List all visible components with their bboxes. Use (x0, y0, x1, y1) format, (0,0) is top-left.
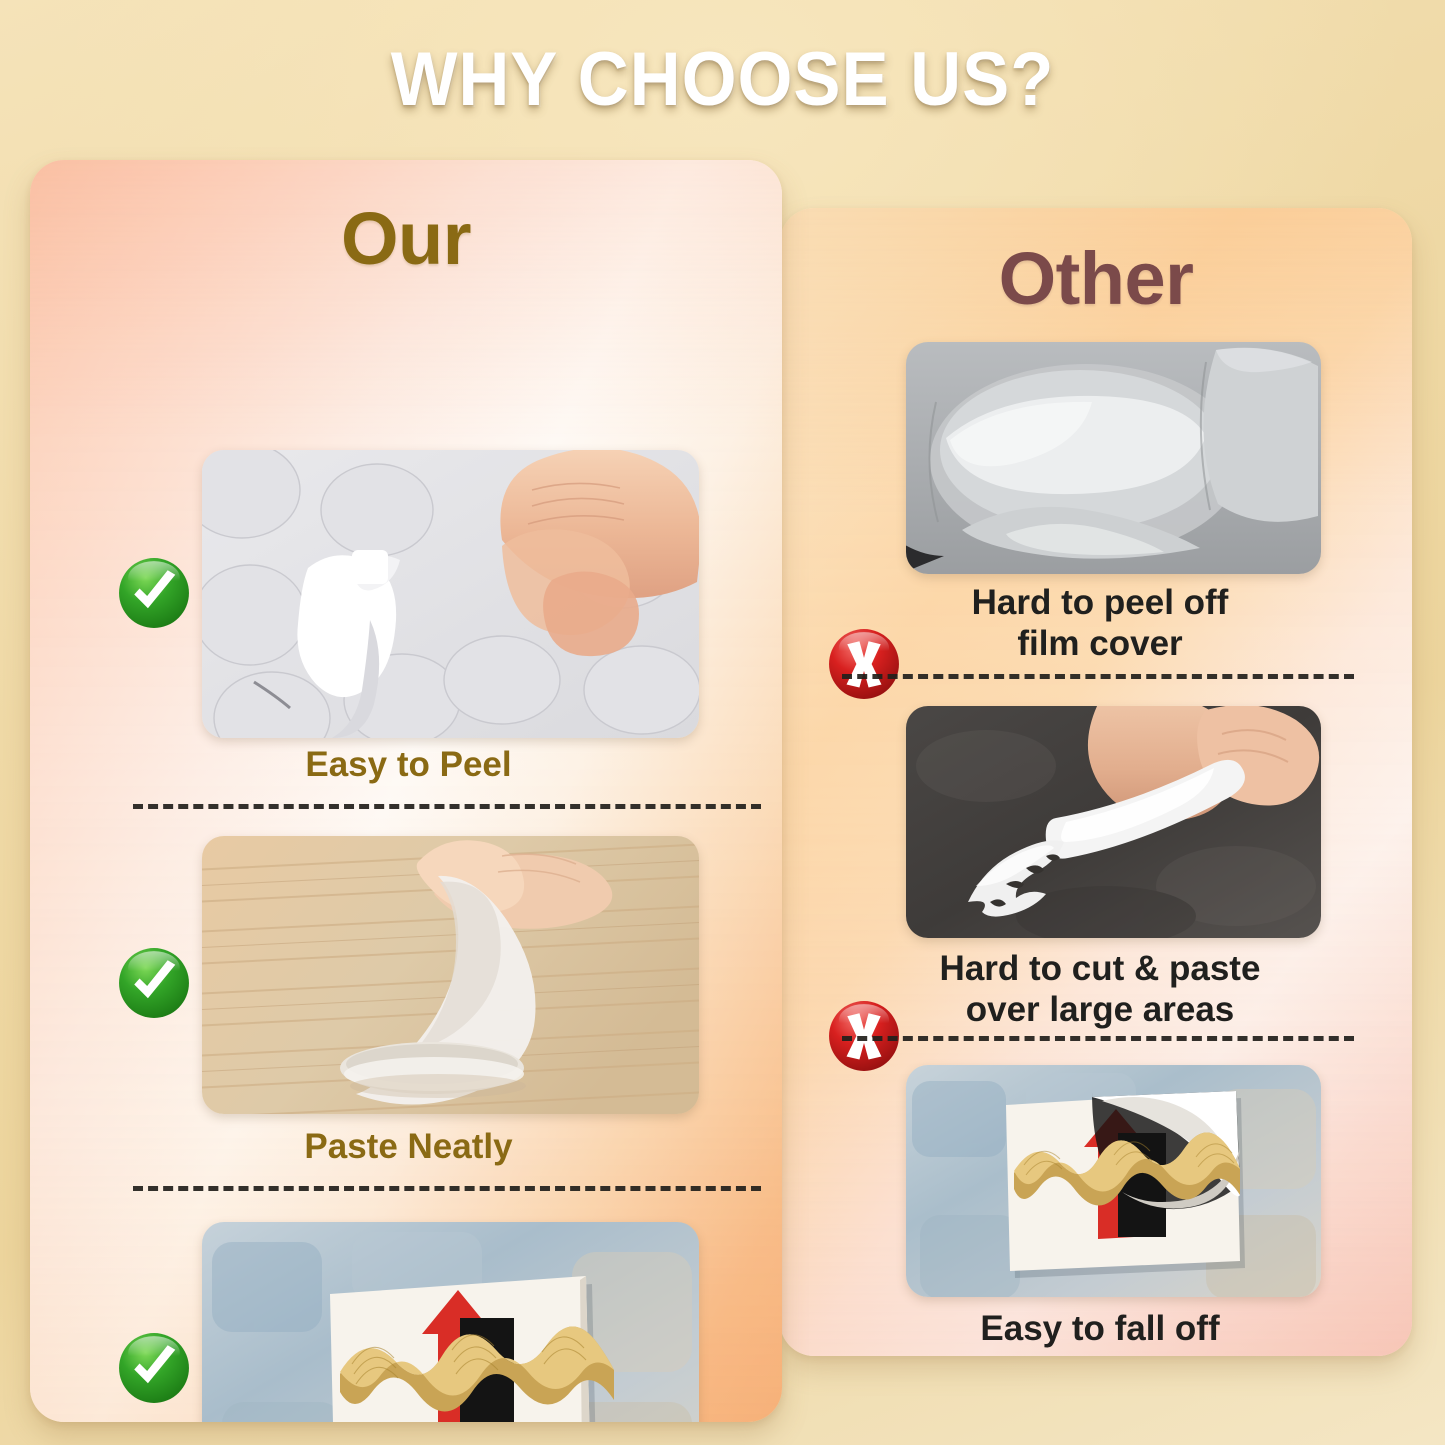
our-divider-1 (133, 804, 761, 809)
other-divider-2 (842, 1036, 1354, 1041)
other-row-2-caption-line2: over large areas (820, 989, 1380, 1030)
our-card-heading: Our (30, 160, 782, 281)
other-row-1-caption-line2: film cover (820, 623, 1380, 664)
other-row-3-caption: Easy to fall off (820, 1308, 1380, 1349)
other-row-1-caption: Hard to peel off film cover (820, 582, 1380, 665)
other-row-1-caption-line1: Hard to peel off (820, 582, 1380, 623)
green-check-icon (116, 1330, 192, 1406)
our-divider-2 (133, 1186, 761, 1191)
other-row-2-caption: Hard to cut & paste over large areas (820, 948, 1380, 1031)
other-comparison-card: Other (780, 208, 1412, 1356)
green-check-icon (116, 945, 192, 1021)
our-comparison-card: Our (30, 160, 782, 1422)
green-check-icon (116, 555, 192, 631)
red-cross-icon (826, 1353, 902, 1356)
our-row-2-caption: Paste Neatly (116, 1126, 701, 1167)
other-divider-1 (842, 674, 1354, 679)
other-row-2-caption-line1: Hard to cut & paste (820, 948, 1380, 989)
film-covered-pad-photo (906, 342, 1321, 574)
wall-art-peeling-photo (906, 1065, 1321, 1297)
page-title: WHY CHOOSE US? (51, 36, 1395, 123)
our-row-1-caption: Easy to Peel (116, 744, 701, 785)
other-row-3-caption-line1: Easy to fall off (820, 1308, 1380, 1349)
torn-adhesive-strip-photo (906, 706, 1321, 938)
wall-art-mounted-photo (202, 1222, 699, 1422)
hand-peeling-adhesive-dot-photo (202, 450, 699, 738)
other-card-heading: Other (780, 208, 1412, 321)
adhesive-dot-on-wood-photo (202, 836, 699, 1114)
